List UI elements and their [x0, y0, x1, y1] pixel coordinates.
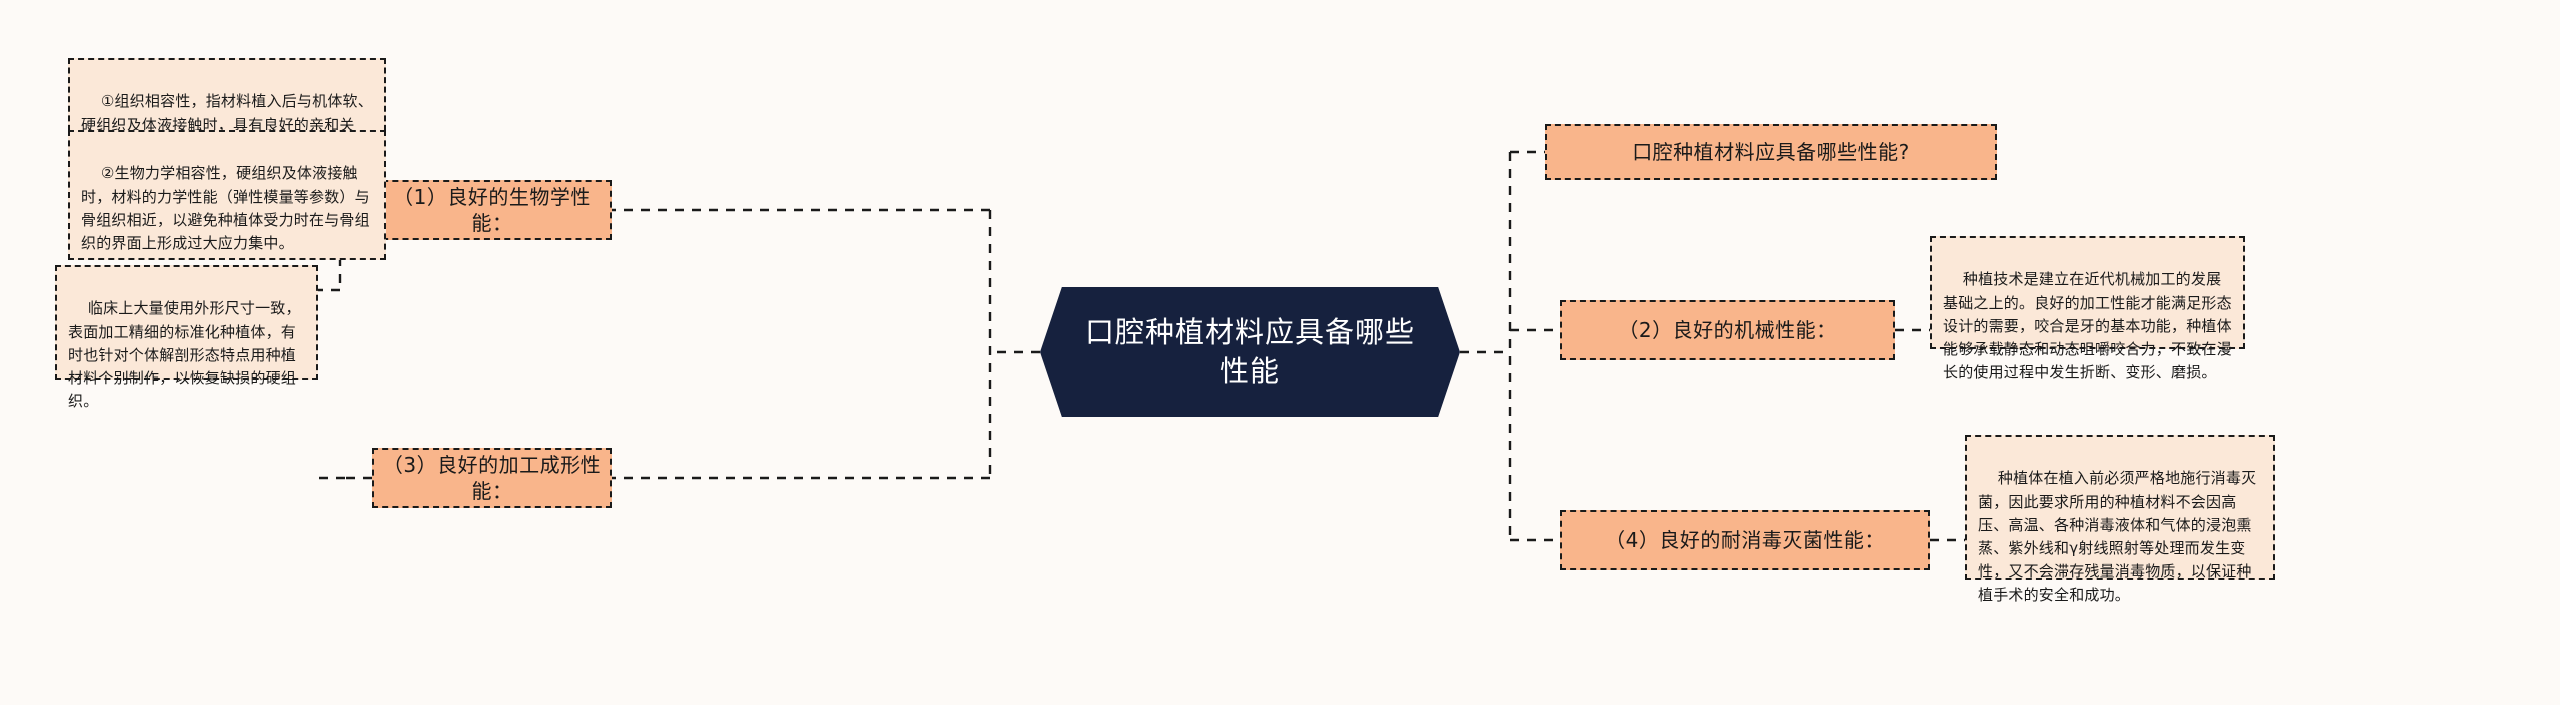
branch-node-question[interactable]: 口腔种植材料应具备哪些性能? — [1545, 124, 1997, 180]
detail-box-4[interactable]: 种植技术是建立在近代机械加工的发展基础之上的。良好的加工性能才能满足形态设计的需… — [1930, 236, 2245, 349]
branch-node-4-label: （4）良好的耐消毒灭菌性能： — [1605, 527, 1885, 553]
center-node[interactable]: 口腔种植材料应具备哪些性能 — [1040, 287, 1460, 417]
detail-box-2-text: ②生物力学相容性，硬组织及体液接触时，材料的力学性能（弹性模量等参数）与骨组织相… — [81, 164, 370, 252]
detail-box-4-text: 种植技术是建立在近代机械加工的发展基础之上的。良好的加工性能才能满足形态设计的需… — [1943, 270, 2232, 381]
detail-box-5-text: 种植体在植入前必须严格地施行消毒灭菌，因此要求所用的种植材料不会因高压、高温、各… — [1978, 469, 2256, 603]
detail-box-2[interactable]: ②生物力学相容性，硬组织及体液接触时，材料的力学性能（弹性模量等参数）与骨组织相… — [68, 130, 386, 260]
branch-node-3-label: （3）良好的加工成形性能： — [374, 452, 610, 504]
detail-box-3[interactable]: 临床上大量使用外形尺寸一致，表面加工精细的标准化种植体，有时也针对个体解剖形态特… — [55, 265, 318, 380]
center-node-label: 口腔种植材料应具备哪些性能 — [1040, 287, 1460, 417]
branch-node-3[interactable]: （3）良好的加工成形性能： — [372, 448, 612, 508]
branch-node-2[interactable]: （2）良好的机械性能： — [1560, 300, 1895, 360]
branch-node-question-label: 口腔种植材料应具备哪些性能? — [1632, 139, 1910, 165]
branch-node-1-label: （1）良好的生物学性能： — [374, 184, 610, 236]
detail-box-5[interactable]: 种植体在植入前必须严格地施行消毒灭菌，因此要求所用的种植材料不会因高压、高温、各… — [1965, 435, 2275, 580]
detail-box-3-text: 临床上大量使用外形尺寸一致，表面加工精细的标准化种植体，有时也针对个体解剖形态特… — [68, 299, 301, 410]
branch-node-1[interactable]: （1）良好的生物学性能： — [372, 180, 612, 240]
mindmap-canvas: 口腔种植材料应具备哪些性能 （1）良好的生物学性能： ①组织相容性，指材料植入后… — [0, 0, 2560, 705]
branch-node-2-label: （2）良好的机械性能： — [1618, 317, 1836, 343]
branch-node-4[interactable]: （4）良好的耐消毒灭菌性能： — [1560, 510, 1930, 570]
